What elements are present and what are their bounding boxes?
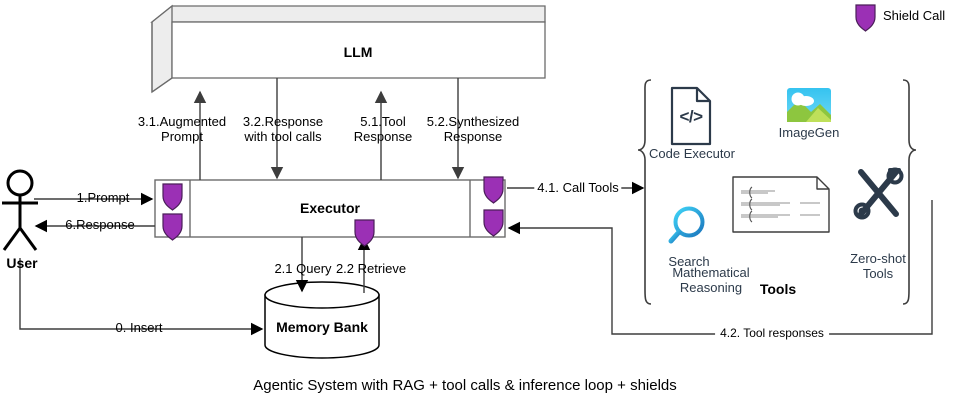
- memory-bank-label: Memory Bank: [276, 319, 368, 335]
- edge-label-tool-response: 5.1.ToolResponse: [354, 115, 413, 145]
- edge-label-augmented-prompt: 3.1.AugmentedPrompt: [138, 115, 226, 145]
- diagram-canvas: LLM Executor Memory Bank User Tools 1.Pr…: [0, 0, 970, 411]
- edge-label-call-tools: 4.1. Call Tools: [534, 181, 621, 196]
- llm-label: LLM: [344, 44, 373, 60]
- tool-label-search: Search: [668, 255, 709, 270]
- diagram-caption: Agentic System with RAG + tool calls & i…: [253, 377, 677, 394]
- executor-label: Executor: [300, 200, 360, 216]
- tool-label-zero-shot-text: Zero-shotTools: [838, 252, 918, 282]
- edge-label-response: 6.Response: [65, 218, 134, 233]
- image-photo-icon: [787, 88, 831, 122]
- edge-insert: [20, 258, 262, 329]
- edge-label-prompt: 1.Prompt: [77, 191, 130, 206]
- edge-label-retrieve: 2.2 Retrieve: [336, 262, 406, 277]
- shield-icon-memory-retrieve: [355, 220, 374, 246]
- magnifier-icon: [671, 209, 703, 242]
- crossed-tools-icon: [856, 170, 902, 218]
- user-label: User: [6, 255, 37, 271]
- tool-label-math-text: MathematicalReasoning: [641, 266, 781, 296]
- user-stick-figure: [2, 171, 38, 250]
- tool-label-imagegen: ImageGen: [779, 126, 840, 141]
- shield-icon-legend: [856, 5, 875, 31]
- tool-label-code-executor: Code Executor: [649, 147, 735, 162]
- diagram-vector-layer: [0, 0, 970, 411]
- edge-label-query: 2.1 Query: [274, 262, 331, 277]
- tool-label-zero-shot-tools: Zero-shotTools: [838, 222, 918, 312]
- edge-label-synthesized-response: 5.2.SynthesizedResponse: [427, 115, 520, 145]
- math-document-icon: [733, 177, 829, 232]
- edge-label-response-with-tool-calls: 3.2.Responsewith tool calls: [243, 115, 323, 145]
- edge-label-tool-responses: 4.2. Tool responses: [715, 327, 829, 341]
- tool-label-mathematical-reasoning: MathematicalReasoning: [711, 236, 851, 326]
- edge-label-insert: 0. Insert: [116, 321, 163, 336]
- legend-shield-label: Shield Call: [883, 9, 945, 24]
- code-glyph-label: </>: [679, 107, 702, 127]
